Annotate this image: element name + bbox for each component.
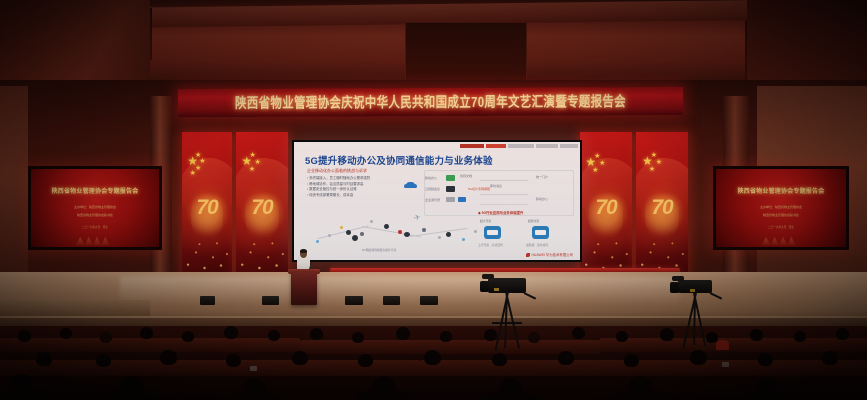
stage-monitor-speaker [345, 296, 363, 305]
diagram-node [346, 230, 351, 235]
flag-star-icon: ★ [255, 159, 261, 166]
audience-red-shirt [716, 340, 729, 350]
presenter-hair [300, 249, 307, 253]
slide-topbar-chip [560, 144, 578, 148]
diagram-node [328, 234, 331, 237]
audience-shoulder [356, 390, 414, 400]
flag-stars: ★ ★ ★ ★ [640, 152, 671, 190]
left-led-line2: 陕西省物业管理协会秘书处 [31, 213, 159, 217]
left-led-title: 陕西省物业管理协会专题报告会 [31, 186, 159, 195]
grid-highlight: 5G切片专网保障 [468, 187, 490, 191]
left-led-screen: 陕西省物业管理协会专题报告会 主办单位：陕西省物业管理协会 陕西省物业管理协会秘… [28, 166, 162, 250]
audience-head [572, 327, 585, 339]
right-panel-sub: 超大带宽 [480, 219, 491, 223]
audience-shoulder [104, 390, 162, 400]
slide-title: 5G提升移动办公及协同通信能力与业务体验 [305, 153, 493, 167]
flag-star-icon: ★ [649, 166, 655, 173]
flag-stars: ★ ★ ★ ★ [584, 152, 615, 190]
flag-panel-right-2: ★ ★ ★ ★ 70 [636, 132, 688, 277]
flag-star-icon: ★ [599, 160, 605, 167]
presentation-slide: 5G提升移动办公及协同通信能力与业务体验 企业移动化办公面临的挑战与诉求 多终端… [294, 142, 580, 260]
grid-label: 企业通讯录 [425, 198, 440, 202]
stage-monitor-speaker [420, 296, 438, 305]
diagram-node [352, 235, 358, 241]
audience-head [616, 331, 628, 342]
grid-chip-icon [446, 186, 455, 192]
diagram-caption: 5G网络端到端能力拓扑示意 [362, 248, 397, 252]
anniversary-emblem: 70 [580, 196, 632, 220]
diagram-node [370, 220, 373, 223]
seat-row [600, 338, 867, 352]
right-panel-caption: 上行带宽 · 高清回传 [478, 243, 503, 247]
diagram-node [446, 232, 451, 237]
auditorium-house [0, 326, 867, 400]
camera-lens-icon [670, 282, 679, 293]
diagram-node [340, 226, 343, 229]
grid-label: 云视频会议 [425, 187, 440, 191]
audience-head [440, 331, 452, 342]
right-led-emblem [758, 233, 805, 245]
audience-shoulder [612, 390, 670, 400]
audience-head [36, 352, 52, 366]
audience-head [96, 354, 111, 367]
diagram-node [404, 232, 410, 237]
diagram-node [438, 236, 441, 239]
slide-topbar-chip [460, 144, 484, 148]
diagram-node [384, 224, 389, 229]
grid-label: 协同文档 [460, 174, 472, 178]
diagram-node [474, 230, 477, 233]
flag-panel-right-1: ★ ★ ★ ★ 70 [580, 132, 632, 277]
flag-confetti [236, 236, 288, 277]
audience-shoulder [740, 392, 794, 400]
audience-device-screen [250, 366, 257, 371]
event-banner-text: 陕西省物业管理协会庆祝中华人民共和国成立70周年文艺汇演暨专题报告会 [235, 91, 626, 113]
audience-device-screen [722, 362, 729, 367]
grid-label: 统一门户 [536, 175, 548, 179]
diagram-node [316, 240, 319, 243]
grid-chip-icon [458, 197, 466, 202]
audience-head [758, 353, 773, 366]
flag-panel-left-1: ★ ★ ★ ★ ★ 70 [182, 132, 232, 277]
left-led-line3: 二〇一九年九月 · 西安 [31, 225, 159, 229]
flag-stars: ★ ★ ★ ★ ★ [186, 152, 216, 190]
audience-head [492, 353, 507, 366]
diagram-node [422, 228, 426, 232]
audience-head [18, 330, 31, 342]
audience-head [160, 350, 177, 365]
tripod-spreader [492, 322, 522, 324]
stage-monitor-speaker [262, 296, 279, 305]
flag-star-icon: ★ [656, 159, 662, 166]
audience-head [424, 350, 441, 365]
diagram-node [462, 238, 465, 241]
audience-head [292, 351, 308, 365]
capability-badge-icon [532, 226, 549, 239]
audience-head [750, 329, 763, 341]
stage-monitor-speaker [200, 296, 215, 305]
left-led-emblem [72, 233, 118, 245]
diagram-node [360, 232, 364, 236]
audience-head [528, 332, 540, 343]
grid-line [480, 194, 528, 195]
audience-head [690, 350, 707, 365]
right-led-line2: 陕西省物业管理协会秘书处 [716, 213, 846, 217]
right-panel-caption: 毫秒级 · 实时协同 [526, 243, 548, 247]
grid-line [480, 180, 528, 181]
audience-head [484, 329, 497, 341]
audience-head [794, 331, 806, 342]
left-led-line1: 主办单位：陕西省物业管理协会 [31, 205, 159, 209]
audience-head [226, 354, 241, 367]
slide-bullet-list: 多终端接入，员工随时随地办公需求强烈 跨地域协作，会议质量与时延要求高 数据安全… [307, 176, 399, 198]
flag-star-icon: ★ [592, 167, 598, 174]
camera-lens-icon [480, 281, 489, 292]
slide-footer-logo: HUAWEI 华为技术有限公司 [526, 252, 573, 257]
audience-head [558, 351, 574, 365]
audience-head [358, 354, 373, 367]
seat-row [300, 340, 600, 354]
projection-screen: 5G提升移动办公及协同通信能力与业务体验 企业移动化办公面临的挑战与诉求 多终端… [292, 140, 582, 262]
grid-chip-icon [446, 175, 455, 181]
slide-topbar-chip [486, 144, 506, 148]
camera-tag [690, 289, 695, 292]
conference-hall-photo: 陕西省物业管理协会庆祝中华人民共和国成立70周年文艺汇演暨专题报告会 ★ ★ ★… [0, 0, 867, 400]
camera-body [678, 280, 712, 293]
capability-badge-icon [484, 226, 501, 239]
camera-tag [494, 288, 499, 291]
right-panel-sub: 超低时延 [528, 219, 539, 223]
audience-head [352, 332, 364, 343]
slide-topbar-chip [508, 144, 534, 148]
slide-topbar [436, 143, 578, 148]
grid-label: 移动办公 [536, 197, 548, 201]
camera-hood [672, 276, 684, 281]
anniversary-emblem: 70 [182, 196, 232, 220]
slide-network-diagram: ✈ 5G网络端到端能力拓扑示意 [310, 208, 500, 254]
grid-label: 移动办公 [425, 176, 437, 180]
camera-hood [482, 274, 494, 279]
audience-shoulder [228, 392, 282, 400]
audience-head [100, 332, 112, 343]
anniversary-emblem: 70 [636, 196, 688, 220]
slide-bullet: 传统专线部署周期长，成本高 [307, 193, 399, 199]
right-led-line3: 二〇一九年九月 · 西安 [716, 225, 846, 229]
audience-head [224, 326, 238, 339]
event-banner: 陕西省物业管理协会庆祝中华人民共和国成立70周年文艺汇演暨专题报告会 [178, 87, 683, 117]
audience-shoulder [484, 392, 538, 400]
flag-stars: ★ ★ ★ ★ [240, 152, 271, 190]
left-led-content: 陕西省物业管理协会专题报告会 主办单位：陕西省物业管理协会 陕西省物业管理协会秘… [31, 169, 159, 247]
audience-head [310, 328, 323, 340]
audience-head [660, 328, 674, 341]
audience-head [396, 327, 410, 340]
audience-head [836, 328, 849, 340]
slide-topbar-chip [536, 144, 558, 148]
flag-star-icon: ★ [190, 170, 196, 177]
flag-star-icon: ★ [249, 166, 255, 173]
audience-head [268, 330, 280, 341]
right-led-screen: 陕西省物业管理协会专题报告会 主办单位：陕西省物业管理协会 陕西省物业管理协会秘… [713, 166, 849, 250]
anniversary-emblem: 70 [236, 196, 288, 220]
slide-right-panel: 5G行业应用与业务体验提升 超大带宽 超低时延 上行带宽 · 高清回传 毫秒级 … [478, 210, 574, 254]
flag-panel-left-2: ★ ★ ★ ★ 70 [236, 132, 288, 277]
seat-row [0, 338, 300, 352]
right-panel-heading: 5G行业应用与业务体验提升 [478, 210, 523, 215]
audience-head [822, 351, 838, 365]
grid-label: 即时消息 [490, 184, 502, 188]
cloud-icon [406, 182, 415, 188]
audience-head [624, 354, 639, 367]
flag-confetti [182, 236, 232, 277]
seat-row [0, 360, 420, 376]
right-led-title: 陕西省物业管理协会专题报告会 [716, 186, 846, 195]
audience-head [182, 331, 194, 342]
right-led-line1: 主办单位：陕西省物业管理协会 [716, 205, 846, 209]
audience-head [60, 328, 72, 339]
grid-line [480, 204, 528, 205]
seat-row [420, 360, 867, 376]
audience-head [140, 327, 153, 339]
audience-shoulder [0, 388, 52, 400]
stage-monitor-speaker [383, 296, 400, 305]
right-led-content: 陕西省物业管理协会专题报告会 主办单位：陕西省物业管理协会 陕西省物业管理协会秘… [716, 169, 846, 247]
airplane-icon: ✈ [413, 213, 422, 223]
grid-chip-icon [446, 197, 455, 202]
diagram-node [398, 230, 402, 234]
slide-subtitle: 企业移动化办公面临的挑战与诉求 [307, 168, 367, 174]
podium [291, 272, 317, 305]
